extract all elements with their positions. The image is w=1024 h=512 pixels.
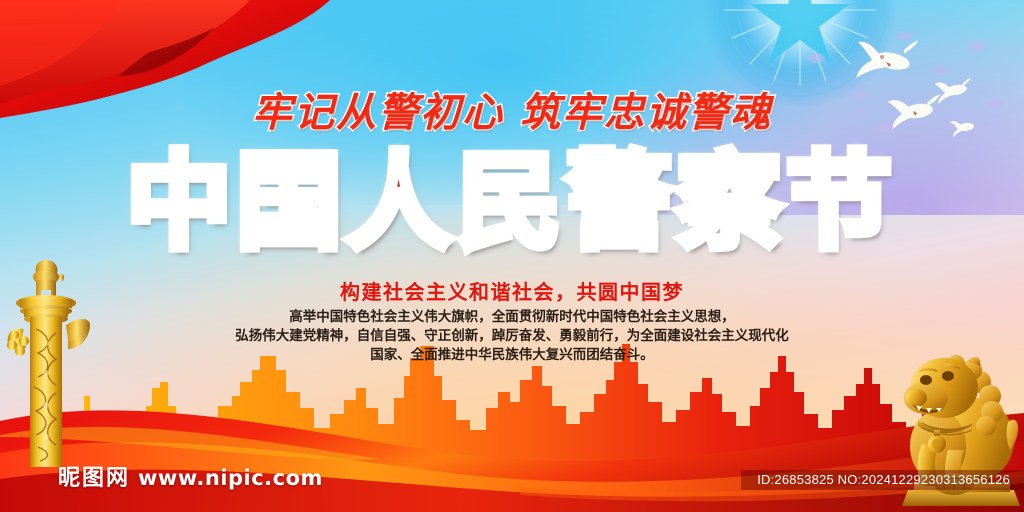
poster-canvas: 牢记从警初心 筑牢忠诚警魂 中国人民警察节 中国人民警察节 构建社会主义和谐社会…	[0, 0, 1024, 512]
red-silk-waves	[0, 387, 1024, 512]
brand-name-cn: 昵图网	[58, 460, 130, 492]
top-slogan: 牢记从警初心 筑牢忠诚警魂	[0, 80, 1024, 138]
body-line-2: 弘扬伟大建党精神，自信自强、守正创新，踔厉奋发、勇毅前行，为全面建设社会主义现代…	[186, 327, 838, 346]
body-paragraph: 高举中国特色社会主义伟大旗帜，全面贯彻新时代中国特色社会主义思想， 弘扬伟大建党…	[186, 308, 838, 365]
body-line-1: 高举中国特色社会主义伟大旗帜，全面贯彻新时代中国特色社会主义思想，	[186, 308, 838, 327]
brand-url: www.nipic.com	[138, 466, 323, 490]
site-watermark: 昵图网 www.nipic.com	[58, 460, 323, 492]
main-title-outline: 中国人民警察节	[0, 146, 1024, 258]
body-line-3: 国家、全面推进中华民族伟大复兴而团结奋斗。	[186, 346, 838, 365]
red-slogan: 构建社会主义和谐社会，共圆中国梦	[0, 276, 1024, 305]
image-id-bar: ID:26853825 NO:20241229230313656126	[741, 470, 1024, 490]
